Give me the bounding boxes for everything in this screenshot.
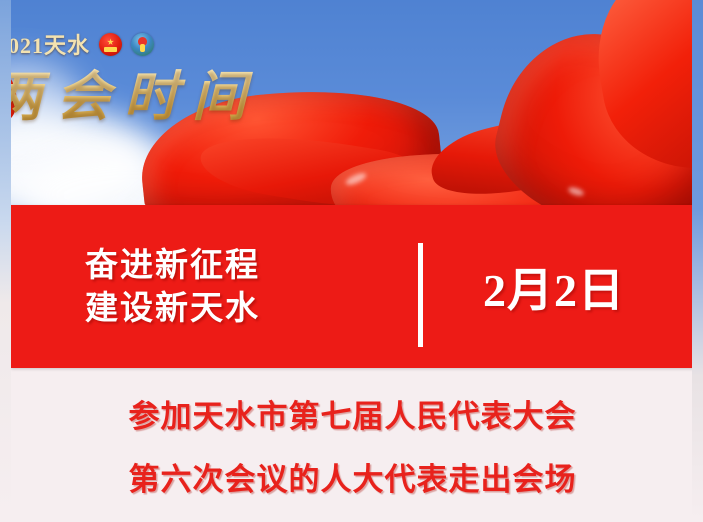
ribbon-segment: [584, 0, 703, 184]
page-gutter-right: [692, 0, 703, 522]
ribbon-highlight: [567, 186, 584, 198]
page-gutter-left: [0, 0, 11, 522]
banner-slogan-line2: 建设新天水: [85, 287, 260, 330]
banner-slogan-line1: 奋进新征程: [85, 244, 260, 287]
banner-vertical-divider: [418, 243, 423, 347]
hero-sky-background: 2021天水 两会时间: [0, 0, 703, 215]
caption-line-2: 第六次会议的人大代表走出会场: [129, 454, 577, 499]
caption-line-1: 参加天水市第七届人民代表大会: [129, 391, 577, 436]
news-poster: 2021天水 两会时间 奋进新征程 建设新天水 2月2日 参加天水市第七届人民代…: [0, 0, 703, 522]
banner-date: 2月2日: [483, 254, 625, 320]
ribbon-highlight: [344, 171, 367, 187]
masthead-title: 两会时间: [0, 52, 260, 131]
red-banner: 奋进新征程 建设新天水 2月2日: [11, 205, 694, 368]
ribbon-segment: [480, 15, 703, 215]
caption-block: 参加天水市第七届人民代表大会 第六次会议的人大代表走出会场: [11, 368, 694, 522]
banner-slogan: 奋进新征程 建设新天水: [85, 244, 260, 330]
